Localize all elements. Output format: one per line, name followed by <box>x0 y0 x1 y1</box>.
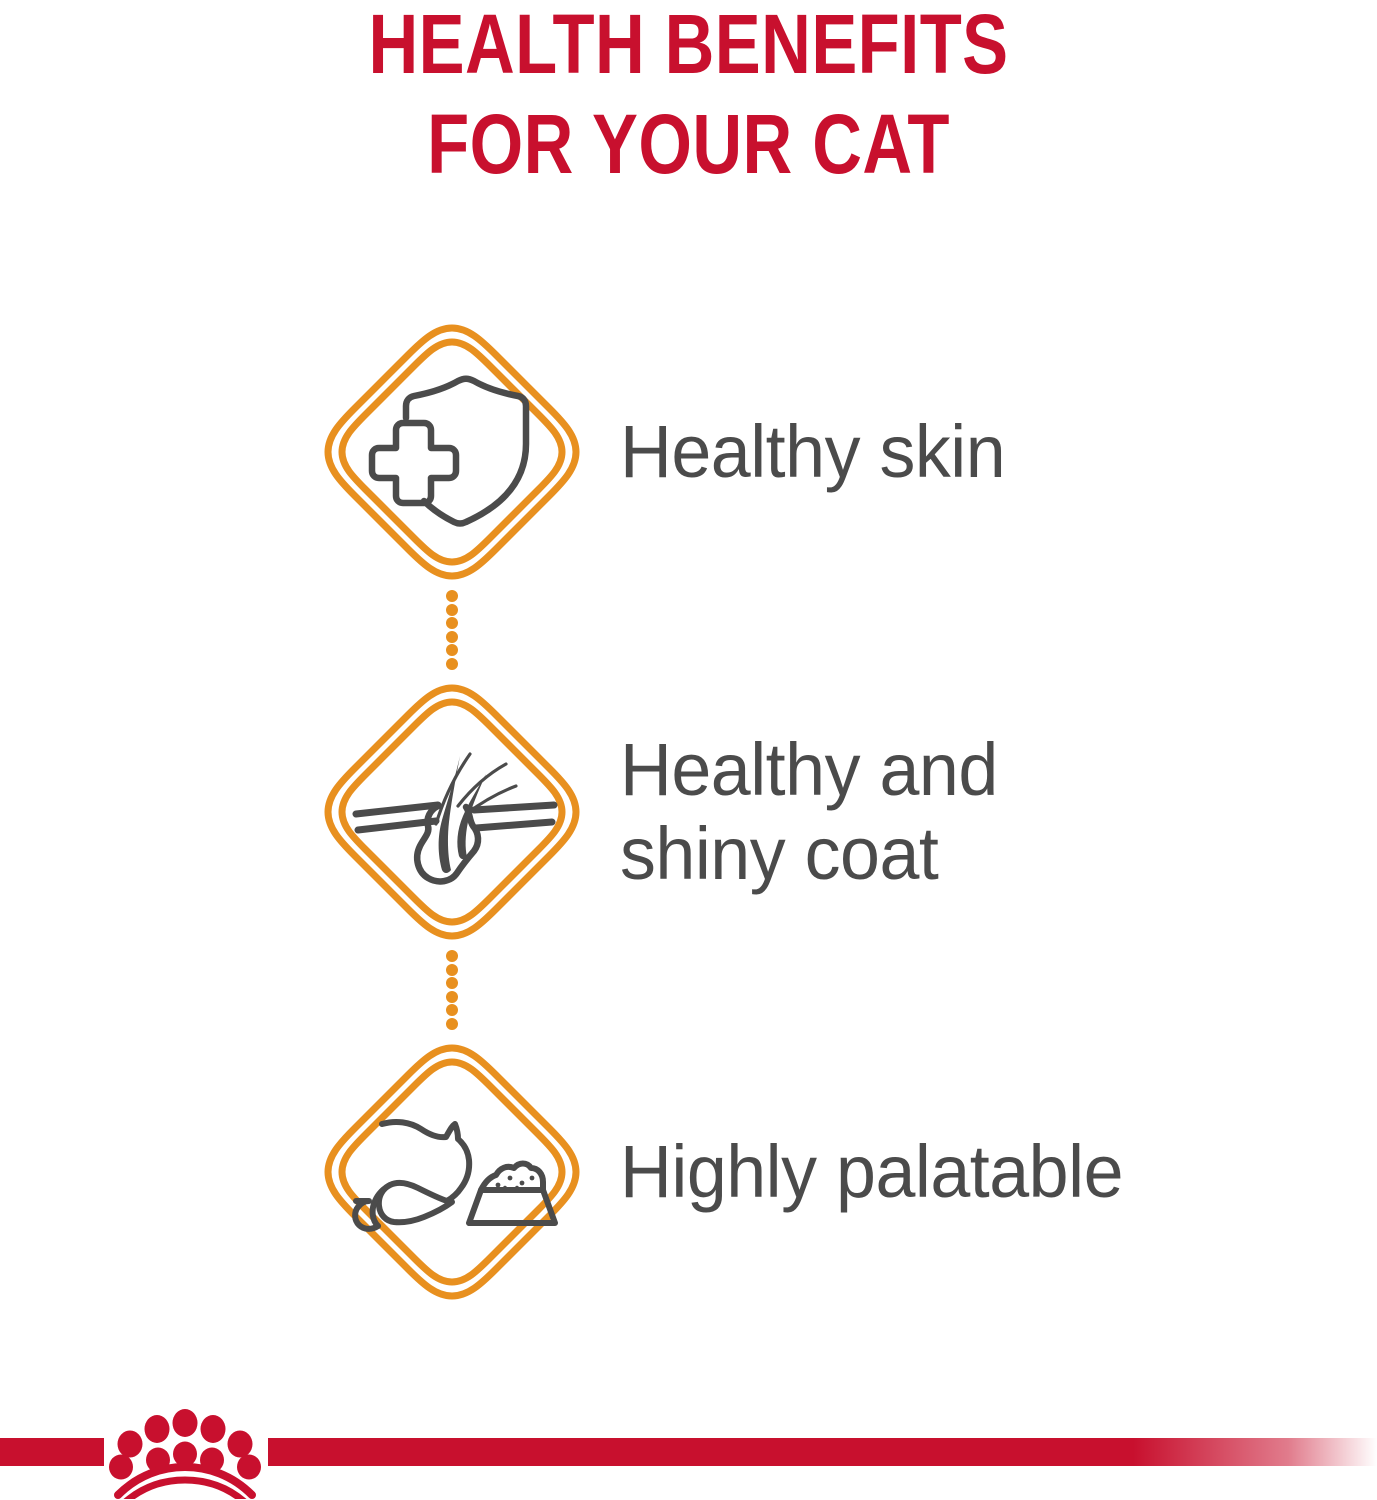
connector-dot <box>446 658 458 670</box>
shield-with-medical-cross-icon <box>372 379 526 524</box>
connector-dots-1 <box>445 590 459 670</box>
connector-dot <box>446 617 458 629</box>
benefits-list: Healthy skin <box>0 318 1377 1306</box>
connector-dot <box>446 644 458 656</box>
page-title: HEALTH BENEFITS FOR YOUR CAT <box>0 2 1377 186</box>
royal-canin-crown-logo <box>100 1391 270 1499</box>
connector-dots-2 <box>445 950 459 1030</box>
connector-dot <box>446 964 458 976</box>
footer <box>0 1390 1377 1500</box>
connector-dot <box>446 977 458 989</box>
connector-dot <box>446 1004 458 1016</box>
benefit-icon-badge <box>318 678 586 946</box>
benefit-label: Highly palatable <box>620 1130 1123 1214</box>
benefit-icon-badge <box>318 1038 586 1306</box>
cat-eating-from-food-bowl-icon <box>355 1122 555 1229</box>
connector-dot <box>446 590 458 602</box>
benefit-icon-badge <box>318 318 586 586</box>
footer-bar-right <box>268 1438 1377 1466</box>
title-line-1: HEALTH BENEFITS <box>124 2 1253 86</box>
connector-dot <box>446 1018 458 1030</box>
benefit-label: Healthy and shiny coat <box>620 728 998 896</box>
connector-dot <box>446 604 458 616</box>
benefit-label: Healthy skin <box>620 410 1005 494</box>
title-line-2: FOR YOUR CAT <box>124 102 1253 186</box>
list-item: Healthy skin <box>0 318 1377 586</box>
list-item: Highly palatable <box>0 1038 1377 1306</box>
connector-dot <box>446 950 458 962</box>
connector-dot <box>446 631 458 643</box>
list-item: Healthy and shiny coat <box>0 678 1377 946</box>
footer-bar-left <box>0 1438 104 1466</box>
connector-dot <box>446 991 458 1003</box>
